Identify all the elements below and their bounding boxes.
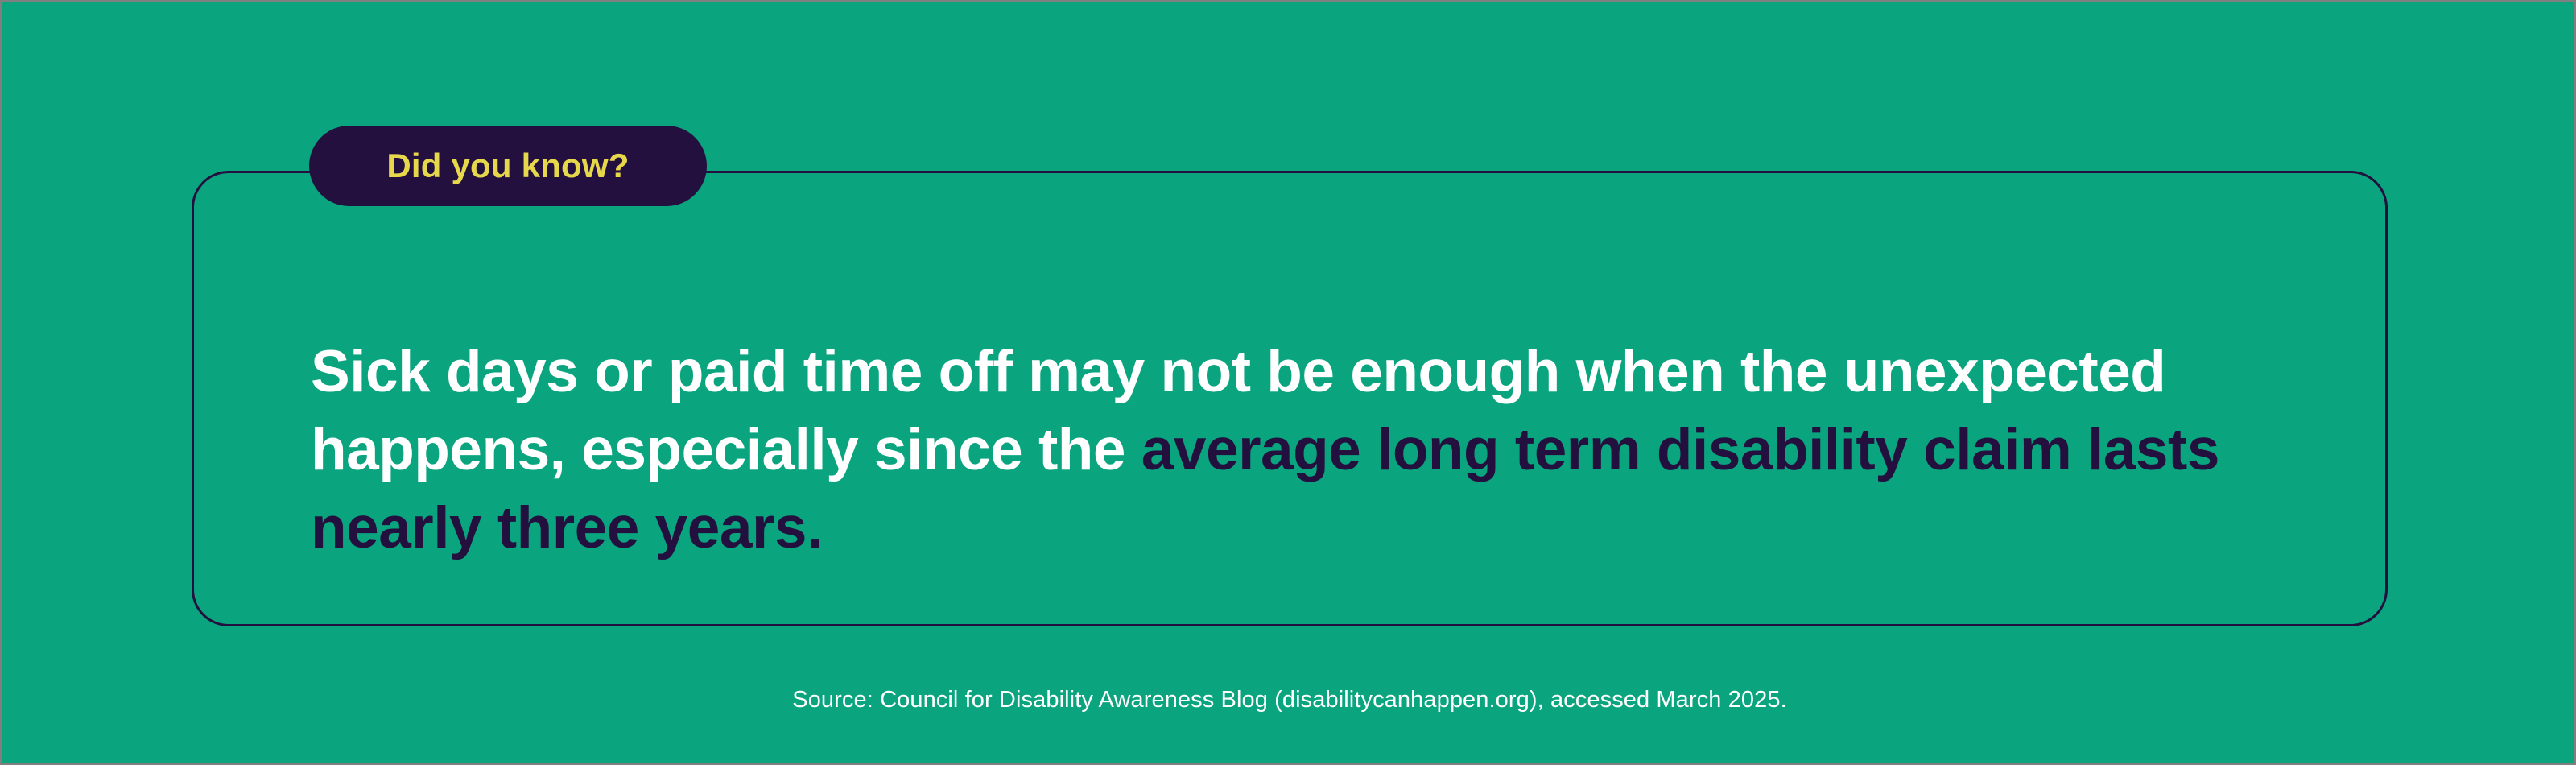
- did-you-know-badge: Did you know?: [309, 126, 707, 206]
- source-attribution: Source: Council for Disability Awareness…: [2, 684, 2576, 715]
- did-you-know-badge-label: Did you know?: [386, 149, 629, 183]
- callout-canvas: Did you know? Sick days or paid time off…: [0, 0, 2576, 765]
- fact-headline: Sick days or paid time off may not be en…: [311, 333, 2299, 567]
